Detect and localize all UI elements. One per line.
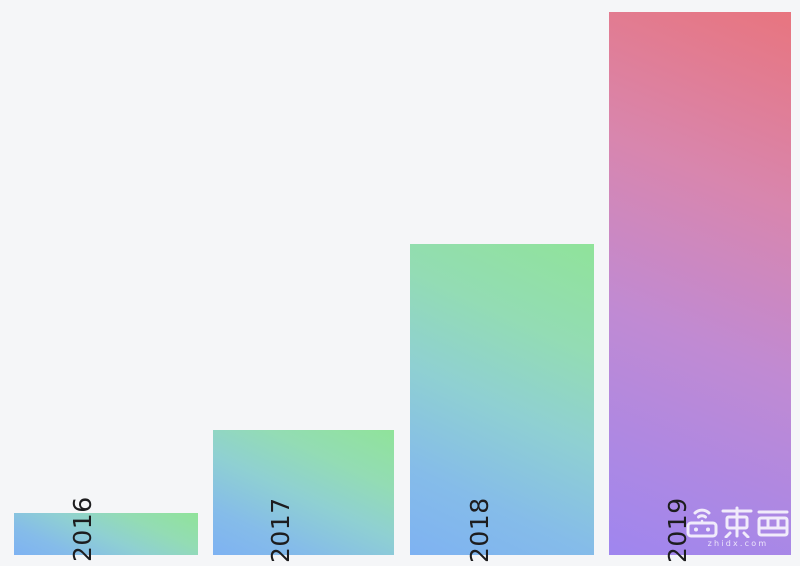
bar-label-2017: 2017 xyxy=(268,497,293,563)
bar-chart: 2016 2017 2018 2019 xyxy=(0,0,800,566)
bar-label-2018: 2018 xyxy=(467,497,492,563)
bar-2016 xyxy=(14,513,198,555)
bar-2018 xyxy=(410,244,594,555)
bar-label-2019: 2019 xyxy=(665,497,690,563)
bar-2017 xyxy=(213,430,394,555)
bar-2019 xyxy=(609,12,791,555)
bar-label-2016: 2016 xyxy=(70,496,95,562)
